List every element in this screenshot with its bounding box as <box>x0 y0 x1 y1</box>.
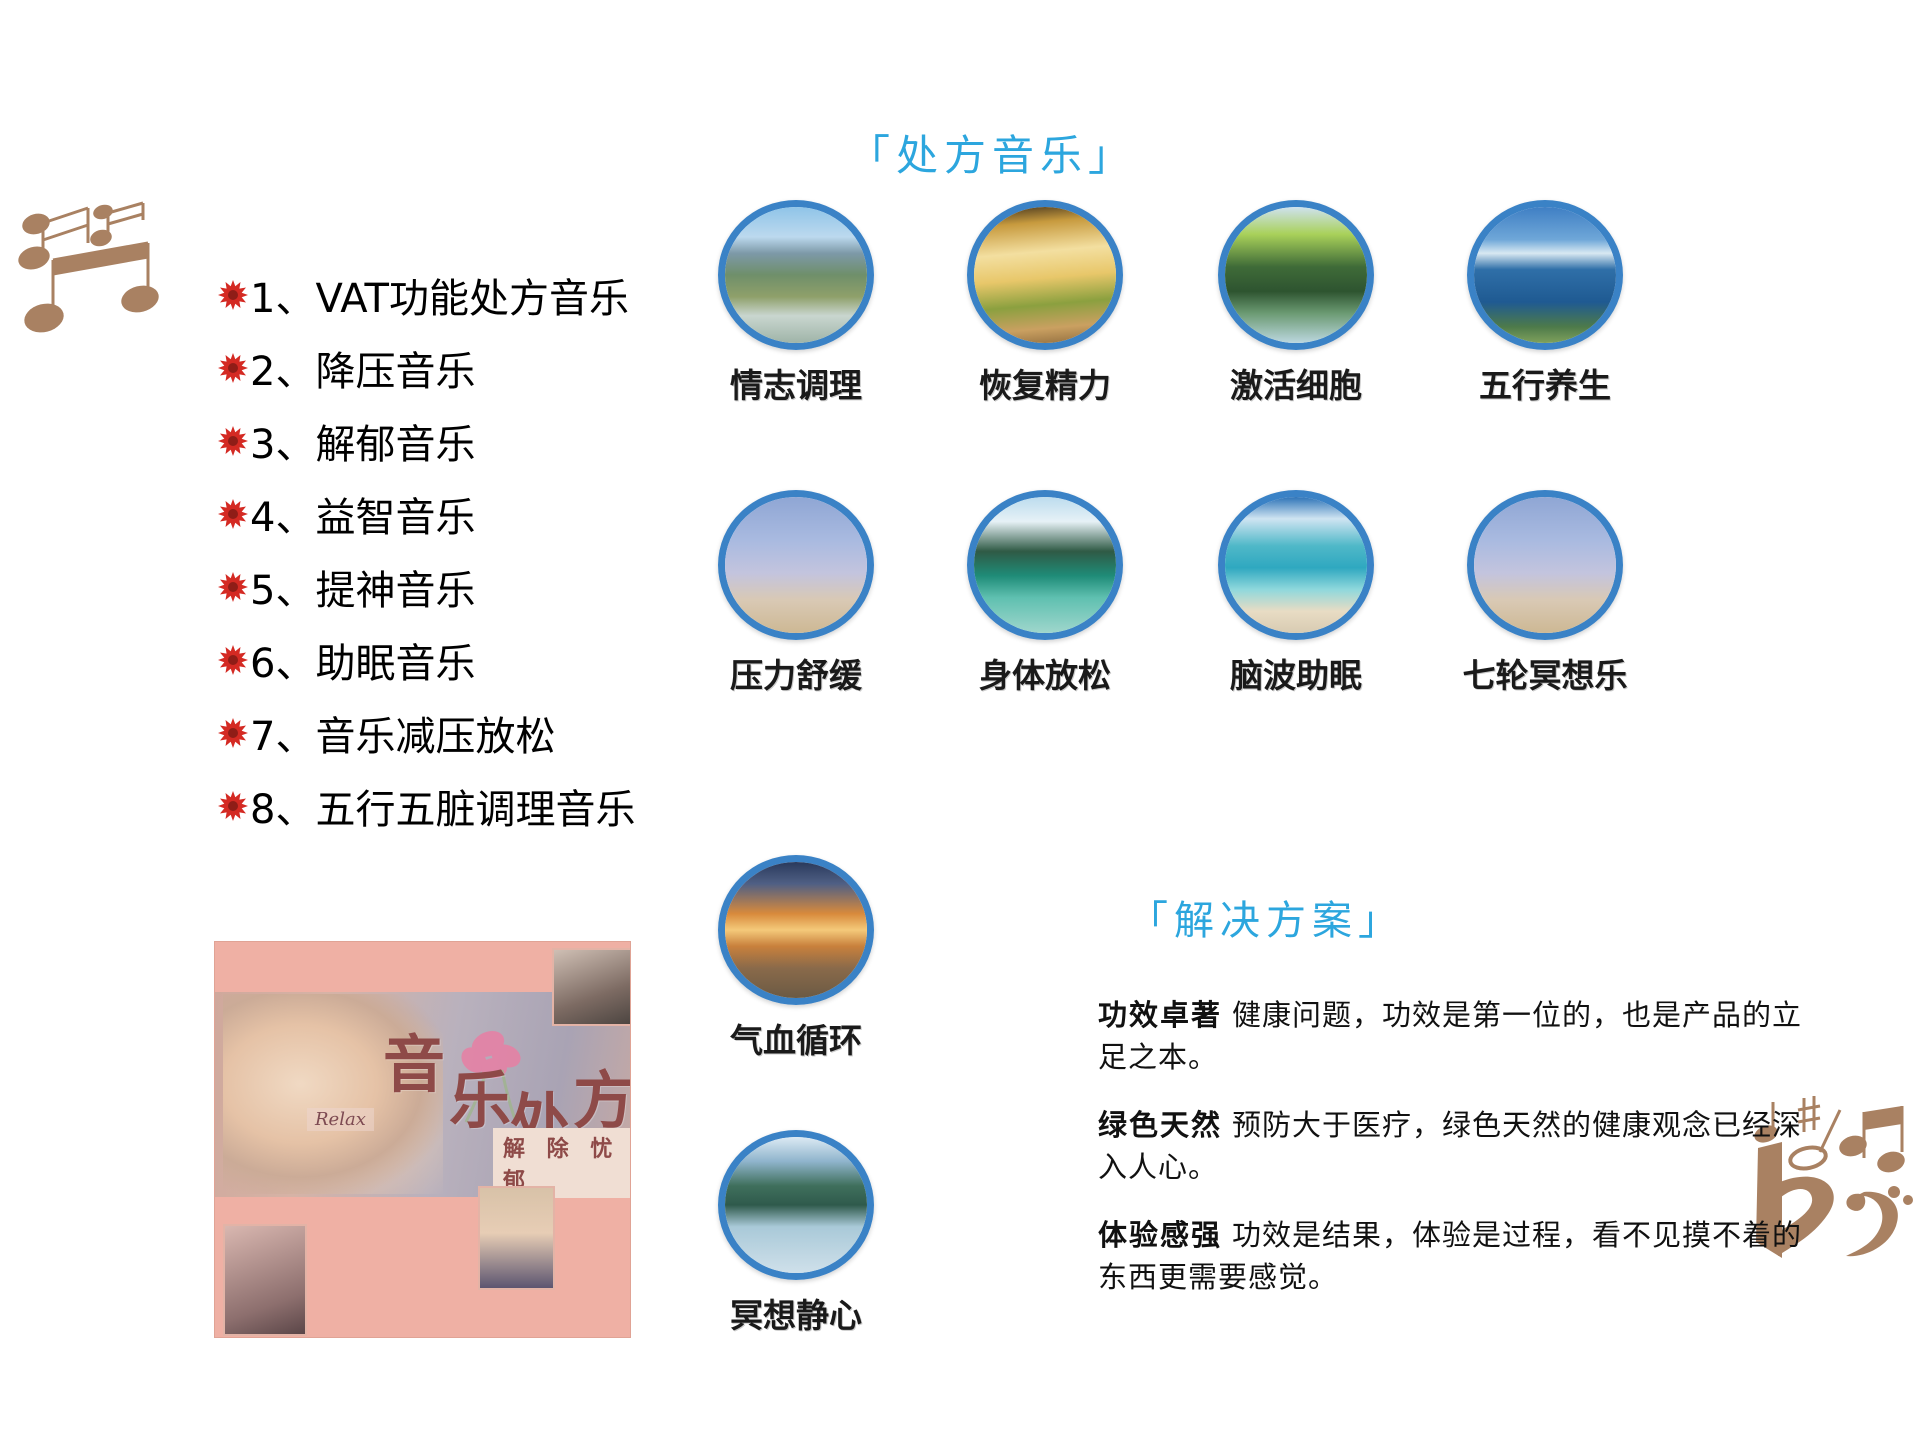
bullet-starburst-icon <box>218 280 248 310</box>
music-list-item[interactable]: 3、解郁音乐 <box>218 404 778 477</box>
scene-circle-image[interactable] <box>1467 490 1623 640</box>
bullet-starburst-icon <box>218 572 248 602</box>
scene-circle-image[interactable] <box>1467 200 1623 350</box>
scene-circle-item[interactable]: 冥想静心 <box>676 1130 916 1337</box>
scene-circle-image[interactable] <box>718 855 874 1005</box>
scene-circle-image[interactable] <box>718 490 874 640</box>
bullet-starburst-icon <box>218 499 248 529</box>
scene-circle-label: 气血循环 <box>676 1014 916 1062</box>
album-title-char-4: 方 <box>573 1070 630 1132</box>
album-photo-bottom-left <box>223 1224 307 1336</box>
scene-circle-item[interactable]: 身体放松 <box>925 490 1165 697</box>
scene-photo <box>974 207 1116 343</box>
music-list-item-label: 提神音乐 <box>315 558 475 616</box>
scene-circle-item[interactable]: 恢复精力 <box>925 200 1165 407</box>
scene-circle-label: 七轮冥想乐 <box>1425 649 1665 697</box>
slide-canvas: 「处方音乐」 「解决方案」 1、VAT功能处方音乐2、降压音乐3、解郁音乐 4、… <box>0 0 1920 1440</box>
bullet-starburst-icon <box>218 718 248 748</box>
scene-circle-item[interactable]: 情志调理 <box>676 200 916 407</box>
scene-circle-image[interactable] <box>1218 200 1374 350</box>
scene-circle-label: 恢复精力 <box>925 359 1165 407</box>
scene-photo <box>725 1137 867 1273</box>
music-list-item-label: 解郁音乐 <box>315 412 475 470</box>
scene-circle-image[interactable] <box>967 200 1123 350</box>
scene-circle-label: 五行养生 <box>1425 359 1665 407</box>
scene-circle-item[interactable]: 脑波助眠 <box>1176 490 1416 697</box>
page-title-solution: 「解决方案」 <box>1128 888 1404 946</box>
music-list-item-label: 音乐减压放松 <box>315 704 555 762</box>
music-list-item-index: 3、 <box>250 412 315 470</box>
music-list-item-index: 2、 <box>250 339 315 397</box>
scene-circle-label: 情志调理 <box>676 359 916 407</box>
scene-photo <box>1225 207 1367 343</box>
solution-point-title: 功效卓著 <box>1098 998 1222 1032</box>
music-list-item-label: 五行五脏调理音乐 <box>315 777 635 835</box>
scene-photo <box>725 497 867 633</box>
music-list-item-label: 益智音乐 <box>315 485 475 543</box>
scene-photo <box>725 862 867 998</box>
scene-circle-label: 压力舒缓 <box>676 649 916 697</box>
scene-circle-item[interactable]: 压力舒缓 <box>676 490 916 697</box>
bullet-starburst-icon <box>218 645 248 675</box>
solution-point: 绿色天然预防大于医疗，绿色天然的健康观念已经深入人心。 <box>1098 1104 1808 1188</box>
scene-photo <box>1474 207 1616 343</box>
bullet-starburst-icon <box>218 353 248 383</box>
album-cover-image: Relax 音 乐 处 方 解 除 忧 郁 医学的角度全新的理念临床的实践音乐的… <box>215 942 630 1337</box>
music-list-item-index: 8、 <box>250 777 315 835</box>
music-list-item-label: VAT功能处方音乐 <box>315 266 629 324</box>
scene-circle-item[interactable]: 激活细胞 <box>1176 200 1416 407</box>
music-list-item[interactable]: 7、音乐减压放松 <box>218 696 778 769</box>
scene-photo <box>725 207 867 343</box>
scene-circle-label: 身体放松 <box>925 649 1165 697</box>
scene-circle-item[interactable]: 气血循环 <box>676 855 916 1062</box>
scene-circle-label: 冥想静心 <box>676 1289 916 1337</box>
album-relax-text: Relax <box>307 1108 374 1131</box>
solution-points: 功效卓著健康问题，功效是第一位的，也是产品的立足之本。绿色天然预防大于医疗，绿色… <box>1098 994 1808 1324</box>
music-list-item[interactable]: 8、五行五脏调理音乐 <box>218 769 778 842</box>
scene-photo <box>1225 497 1367 633</box>
music-list-item-index: 5、 <box>250 558 315 616</box>
album-photo-top-right <box>552 948 630 1026</box>
album-vertical-text: 医学的角度全新的理念临床的实践音乐的调理 <box>385 1192 630 1267</box>
music-list-item-index: 4、 <box>250 485 315 543</box>
solution-point: 体验感强功效是结果，体验是过程，看不见摸不着的东西更需要感觉。 <box>1098 1214 1808 1298</box>
album-title-char-1: 音 <box>383 1028 447 1101</box>
solution-point: 功效卓著健康问题，功效是第一位的，也是产品的立足之本。 <box>1098 994 1808 1078</box>
music-notes-icon <box>8 168 178 338</box>
scene-circle-image[interactable] <box>718 200 874 350</box>
solution-point-title: 绿色天然 <box>1098 1108 1222 1142</box>
music-list-item-label: 降压音乐 <box>315 339 475 397</box>
album-title-char-2: 乐 <box>449 1070 513 1132</box>
scene-circle-label: 脑波助眠 <box>1176 649 1416 697</box>
scene-circle-label: 激活细胞 <box>1176 359 1416 407</box>
scene-photo <box>1474 497 1616 633</box>
page-title-prescription: 「处方音乐」 <box>848 122 1136 183</box>
scene-circle-item[interactable]: 五行养生 <box>1425 200 1665 407</box>
scene-photo <box>974 497 1116 633</box>
album-title: 音 乐 处 方 <box>383 1034 447 1096</box>
music-list-item-label: 助眠音乐 <box>315 631 475 689</box>
scene-circle-item[interactable]: 七轮冥想乐 <box>1425 490 1665 697</box>
bullet-starburst-icon <box>218 791 248 821</box>
music-list-item-index: 1、 <box>250 266 315 324</box>
music-list-item-index: 6、 <box>250 631 315 689</box>
scene-circle-image[interactable] <box>967 490 1123 640</box>
music-list-item-index: 7、 <box>250 704 315 762</box>
scene-circle-image[interactable] <box>718 1130 874 1280</box>
bullet-starburst-icon <box>218 426 248 456</box>
scene-circle-image[interactable] <box>1218 490 1374 640</box>
solution-point-title: 体验感强 <box>1098 1218 1222 1252</box>
